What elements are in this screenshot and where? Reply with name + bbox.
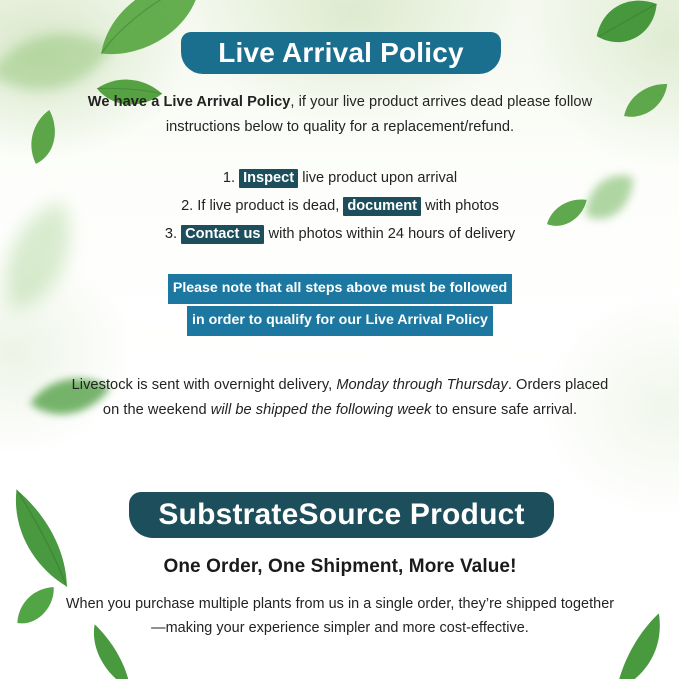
shipping-paragraph: Livestock is sent with overnight deliver… (62, 373, 618, 423)
step-keyword-highlight: Inspect (239, 169, 298, 188)
list-item: 1. Inspect live product upon arrival (62, 164, 618, 192)
note-row: Please note that all steps above must be… (62, 274, 618, 304)
note-line-1: Please note that all steps above must be… (168, 274, 512, 304)
list-item: 3. Contact us with photos within 24 hour… (62, 220, 618, 248)
intro-bold-lead: We have a Live Arrival Policy (88, 94, 291, 110)
shipping-part-1: Livestock is sent with overnight deliver… (72, 377, 337, 393)
step-number: 1. (223, 170, 235, 186)
note-line-2: in order to qualify for our Live Arrival… (187, 306, 493, 336)
step-after: with photos (421, 198, 499, 214)
note-block: Please note that all steps above must be… (62, 274, 618, 338)
step-number: 3. (165, 226, 177, 242)
banner-substratesource-product: SubstrateSource Product (129, 492, 554, 538)
leaf-icon (589, 0, 664, 58)
step-keyword-highlight: Contact us (181, 225, 264, 244)
step-after: with photos within 24 hours of delivery (264, 226, 515, 242)
steps-list: 1. Inspect live product upon arrival 2. … (62, 164, 618, 248)
note-row: in order to qualify for our Live Arrival… (62, 306, 618, 336)
step-keyword-highlight: document (343, 197, 421, 216)
leaf-icon (617, 80, 674, 124)
step-number: 2. (181, 198, 193, 214)
shipping-part-3: to ensure safe arrival. (432, 402, 578, 418)
step-after: live product upon arrival (298, 170, 457, 186)
leaf-icon (8, 583, 64, 631)
value-headline: One Order, One Shipment, More Value! (62, 556, 618, 578)
list-item: 2. If live product is dead, document wit… (62, 192, 618, 220)
shipping-italic-1: Monday through Thursday (336, 377, 508, 393)
intro-paragraph: We have a Live Arrival Policy, if your l… (62, 90, 618, 140)
promotional-graphic-page: Live Arrival Policy We have a Live Arriv… (0, 0, 679, 679)
banner-live-arrival-policy: Live Arrival Policy (181, 32, 501, 74)
step-before: If live product is dead, (193, 198, 343, 214)
value-paragraph: When you purchase multiple plants from u… (62, 592, 618, 640)
shipping-italic-2: will be shipped the following week (211, 402, 432, 418)
